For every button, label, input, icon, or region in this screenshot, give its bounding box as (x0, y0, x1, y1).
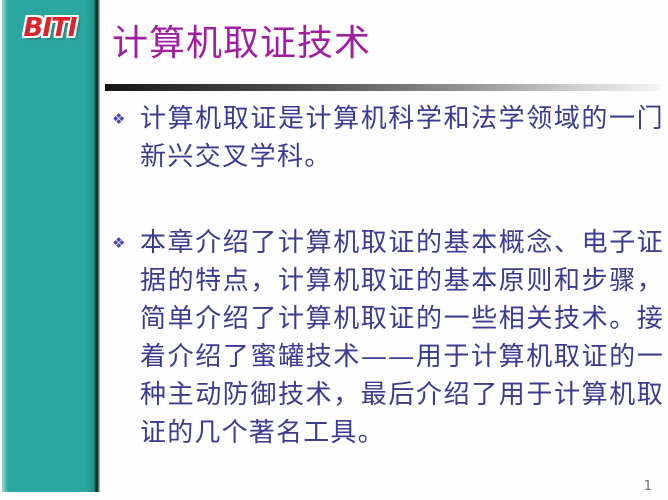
title-underline-rule (105, 84, 660, 91)
list-item-text: 计算机取证是计算机科学和法学领域的一门新兴交叉学科。 (140, 100, 664, 176)
diamond-bullet-icon: ❖ (112, 224, 140, 262)
slide-body: ❖ 计算机取证是计算机科学和法学领域的一门新兴交叉学科。 ❖ 本章介绍了计算机取… (112, 100, 664, 452)
list-item: ❖ 本章介绍了计算机取证的基本概念、电子证据的特点，计算机取证的基本原则和步骤，… (112, 224, 664, 452)
sidebar-edge-divider (96, 0, 100, 492)
biti-logo: BITI (14, 12, 86, 44)
list-item: ❖ 计算机取证是计算机科学和法学领域的一门新兴交叉学科。 (112, 100, 664, 176)
logo-text: BITI (24, 13, 77, 43)
sidebar-decoration-band (2, 0, 96, 492)
slide-canvas: BITI 计算机取证技术 ❖ 计算机取证是计算机科学和法学领域的一门新兴交叉学科… (0, 0, 668, 500)
diamond-bullet-icon: ❖ (112, 100, 140, 138)
page-number: 1 (644, 479, 652, 494)
slide-title: 计算机取证技术 (112, 22, 371, 66)
list-item-text: 本章介绍了计算机取证的基本概念、电子证据的特点，计算机取证的基本原则和步骤，简单… (140, 224, 664, 452)
